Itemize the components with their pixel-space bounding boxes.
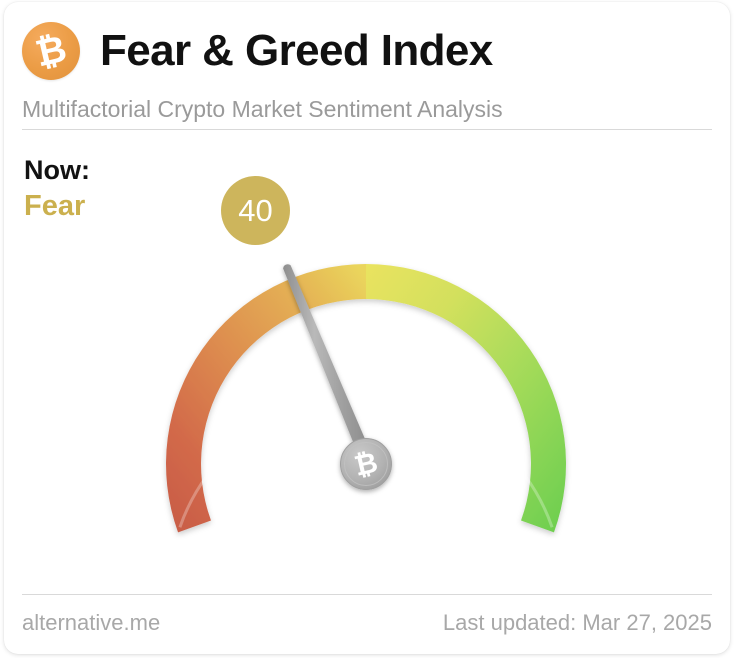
footer-divider xyxy=(22,594,712,595)
bitcoin-icon: ₿ xyxy=(22,22,80,80)
title-row: ₿ Fear & Greed Index xyxy=(22,18,712,84)
bitcoin-glyph: ₿ xyxy=(19,26,84,75)
header-divider xyxy=(22,129,712,130)
footer-brand[interactable]: alternative.me xyxy=(22,610,160,636)
page-subtitle: Multifactorial Crypto Market Sentiment A… xyxy=(22,96,712,122)
index-value: 40 xyxy=(238,195,272,226)
footer-last-updated: Last updated: Mar 27, 2025 xyxy=(443,610,712,636)
now-label: Now: xyxy=(24,154,90,186)
gauge-arc xyxy=(166,264,566,532)
page-title: Fear & Greed Index xyxy=(100,29,493,73)
fear-greed-gauge: ₿ xyxy=(4,230,730,580)
now-block: Now: Fear xyxy=(24,154,90,225)
header: ₿ Fear & Greed Index Multifactorial Cryp… xyxy=(22,18,712,122)
sentiment-label: Fear xyxy=(24,188,90,224)
gauge-svg: ₿ xyxy=(4,230,730,580)
footer: alternative.me Last updated: Mar 27, 202… xyxy=(22,610,712,636)
fear-greed-card: ₿ Fear & Greed Index Multifactorial Cryp… xyxy=(4,2,730,654)
